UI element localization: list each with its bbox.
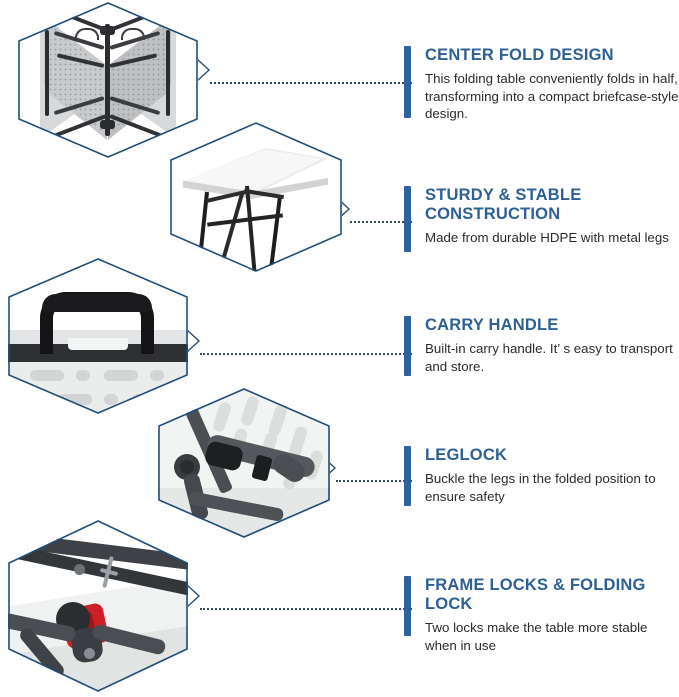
feature-image-frame-locks-folding-lock bbox=[8, 520, 188, 692]
connector-line-1 bbox=[210, 80, 412, 84]
feature-title-leglock: LEGLOCK bbox=[425, 446, 679, 465]
feature-description-center-fold-design: This folding table conveniently folds in… bbox=[425, 70, 679, 123]
hex-photo-2 bbox=[170, 122, 342, 272]
connector-line-3 bbox=[200, 351, 412, 355]
feature-infographic: CENTER FOLD DESIGN This folding table co… bbox=[0, 0, 679, 697]
feature-block-leglock: LEGLOCK Buckle the legs in the folded po… bbox=[404, 446, 679, 506]
hex-photo-4 bbox=[158, 388, 330, 538]
accent-bar-center-fold-design bbox=[404, 46, 411, 118]
connector-elbow-5 bbox=[186, 584, 202, 608]
accent-bar-carry-handle bbox=[404, 316, 411, 376]
feature-title-sturdy-stable-construction: STURDY & STABLE CONSTRUCTION bbox=[425, 186, 669, 224]
connector-elbow-1 bbox=[196, 58, 212, 82]
feature-image-sturdy-stable-construction bbox=[170, 122, 342, 272]
feature-description-sturdy-stable-construction: Made from durable HDPE with metal legs bbox=[425, 229, 669, 247]
hex-photo-5 bbox=[8, 520, 188, 692]
feature-title-carry-handle: CARRY HANDLE bbox=[425, 316, 679, 335]
feature-title-frame-locks-folding-lock: FRAME LOCKS & FOLDING LOCK bbox=[425, 576, 679, 614]
connector-line-2 bbox=[350, 219, 412, 223]
connector-elbow-3 bbox=[186, 329, 202, 353]
connector-line-5 bbox=[200, 606, 412, 610]
feature-description-frame-locks-folding-lock: Two locks make the table more stable whe… bbox=[425, 619, 679, 654]
accent-bar-frame-locks-folding-lock bbox=[404, 576, 411, 636]
feature-title-center-fold-design: CENTER FOLD DESIGN bbox=[425, 46, 679, 65]
accent-bar-sturdy-stable-construction bbox=[404, 186, 411, 252]
feature-block-sturdy-stable-construction: STURDY & STABLE CONSTRUCTION Made from d… bbox=[404, 186, 669, 252]
feature-description-carry-handle: Built-in carry handle. It’ s easy to tra… bbox=[425, 340, 679, 375]
accent-bar-leglock bbox=[404, 446, 411, 506]
feature-block-frame-locks-folding-lock: FRAME LOCKS & FOLDING LOCK Two locks mak… bbox=[404, 576, 679, 636]
feature-block-center-fold-design: CENTER FOLD DESIGN This folding table co… bbox=[404, 46, 679, 118]
feature-block-carry-handle: CARRY HANDLE Built-in carry handle. It’ … bbox=[404, 316, 679, 376]
feature-image-leglock bbox=[158, 388, 330, 538]
connector-line-4 bbox=[336, 478, 412, 482]
feature-description-leglock: Buckle the legs in the folded position t… bbox=[425, 470, 679, 505]
